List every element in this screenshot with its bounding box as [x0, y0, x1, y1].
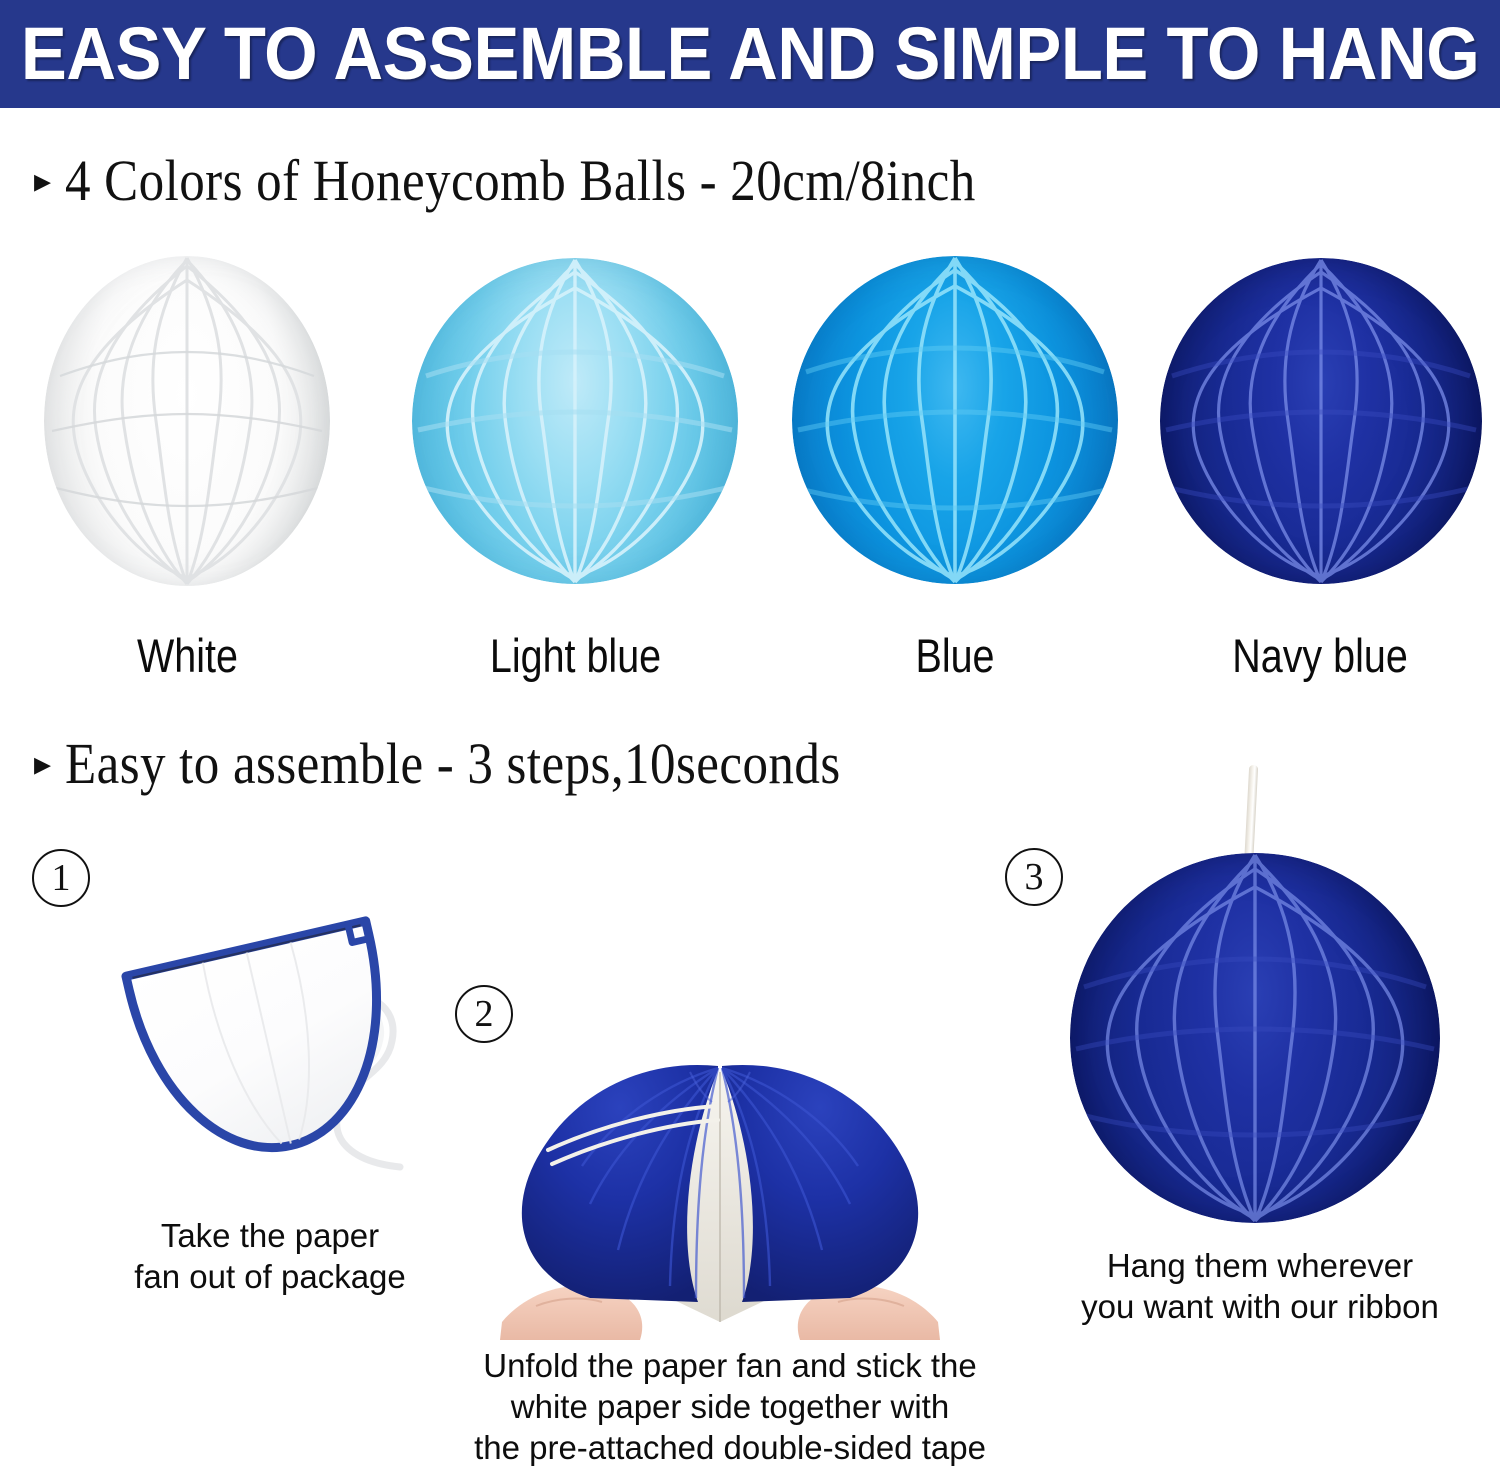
section-heading-colors: ▸ 4 Colors of Honeycomb Balls - 20cm/8in…	[34, 150, 1100, 212]
step-caption-2: Unfold the paper fan and stick the white…	[440, 1345, 1020, 1466]
hanging-honeycomb-ball-illustration	[1060, 765, 1460, 1225]
banner-title: EASY TO ASSEMBLE AND SIMPLE TO HANG	[21, 14, 1479, 94]
color-label-navy-blue: Navy blue	[1181, 630, 1458, 682]
honeycomb-ball-navy-blue	[1160, 258, 1482, 584]
honeycomb-lattice-icon	[412, 258, 738, 584]
ribbon-string	[1244, 765, 1258, 865]
honeycomb-ball-light-blue	[412, 258, 738, 584]
honeycomb-lattice-icon	[792, 256, 1118, 584]
section-heading-colors-text: 4 Colors of Honeycomb Balls - 20cm/8inch	[65, 150, 976, 212]
honeycomb-ball-white	[44, 256, 330, 586]
header-banner: EASY TO ASSEMBLE AND SIMPLE TO HANG	[0, 0, 1500, 108]
infographic-page: EASY TO ASSEMBLE AND SIMPLE TO HANG ▸ 4 …	[0, 0, 1500, 1466]
triangle-bullet-icon: ▸	[34, 748, 51, 782]
triangle-bullet-icon: ▸	[34, 165, 51, 199]
step-badge-3: 3	[1005, 848, 1063, 906]
folded-paper-fan-illustration	[70, 845, 490, 1215]
honeycomb-lattice-icon	[44, 256, 330, 586]
color-label-blue: Blue	[825, 630, 1085, 682]
step-caption-3: Hang them wherever you want with our rib…	[1050, 1245, 1470, 1327]
section-heading-assemble-text: Easy to assemble - 3 steps,10seconds	[65, 733, 841, 795]
unfolded-fan-in-hands-illustration	[490, 950, 950, 1340]
honeycomb-lattice-icon	[1070, 853, 1440, 1223]
step-caption-1: Take the paper fan out of package	[60, 1215, 480, 1297]
section-heading-assemble: ▸ Easy to assemble - 3 steps,10seconds	[34, 733, 946, 795]
honeycomb-lattice-icon	[1160, 258, 1482, 584]
color-label-white: White	[76, 630, 299, 682]
honeycomb-ball-navy-hanging	[1070, 853, 1440, 1223]
honeycomb-ball-blue	[792, 256, 1118, 584]
color-label-light-blue: Light blue	[443, 630, 708, 682]
